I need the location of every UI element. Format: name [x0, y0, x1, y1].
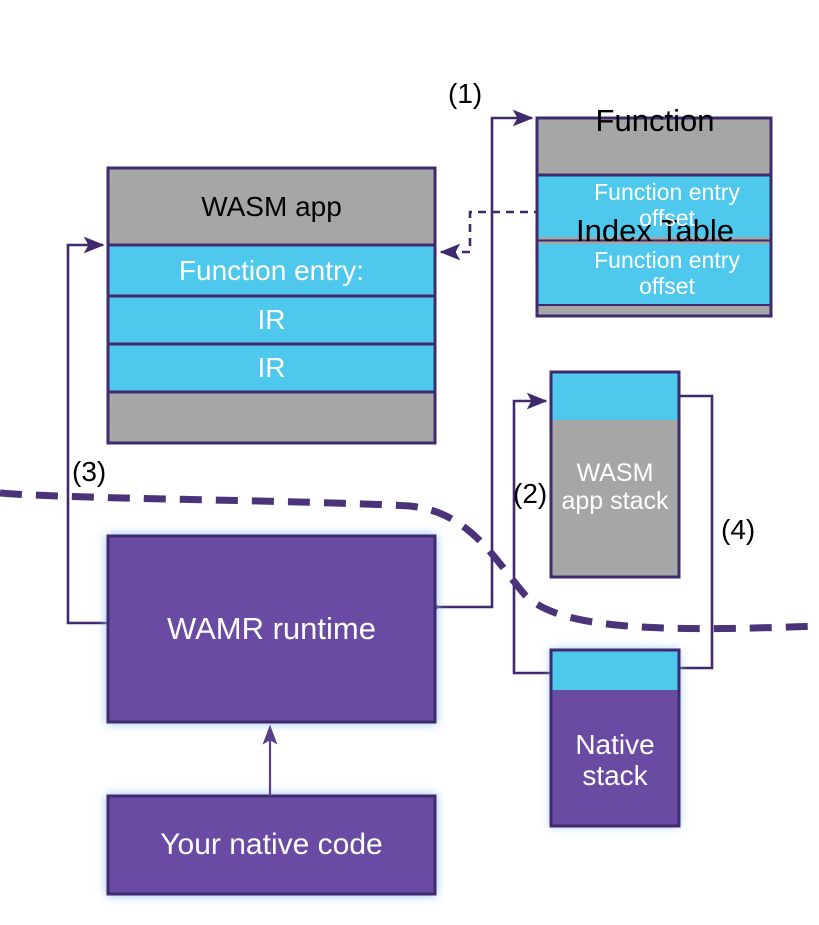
step-3-label: (3): [72, 455, 106, 488]
connector-step-1: [429, 118, 532, 607]
function-index-table-heading-line1: Function: [545, 103, 765, 140]
function-index-table-heading-line2: Index Table: [545, 213, 765, 250]
function-index-table-heading: Function Index Table: [545, 30, 765, 323]
wasm-app-stack-box: [551, 372, 679, 577]
step-2-label: (2): [513, 477, 547, 510]
native-stack-box: [551, 650, 679, 826]
step-4-label: (4): [721, 513, 755, 546]
wasm-app-box: [108, 168, 435, 443]
connector-step-3: [68, 245, 108, 623]
diagram-canvas: Function Index Table (1) (2) (3) (4) WAS…: [0, 0, 819, 925]
step-1-label: (1): [448, 77, 482, 110]
your-native-code-box: [108, 796, 435, 894]
wamr-runtime-box: [108, 536, 435, 722]
